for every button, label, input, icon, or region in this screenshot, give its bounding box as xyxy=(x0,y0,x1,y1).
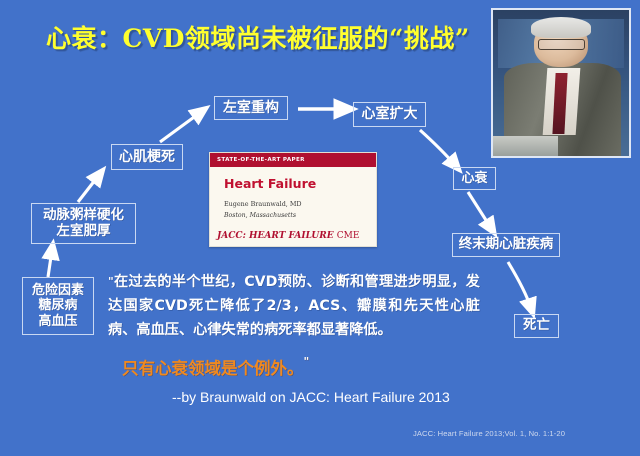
paper-affiliation: Boston, Massachusetts xyxy=(210,208,376,219)
arrow-risk-to-athero xyxy=(48,250,52,277)
quote-attribution: --by Braunwald on JACC: Heart Failure 20… xyxy=(172,389,450,405)
quote-highlight-text: 只有心衰领域是个例外。 xyxy=(122,359,304,378)
paper-cme-line: JACC: HEART FAILURE CME xyxy=(217,231,359,241)
slide-canvas: 心衰：CVD领域尚未被征服的“挑战” 危险因素 糖尿病 高血压 动脉粥 xyxy=(0,0,640,456)
source-citation: JACC: Heart Failure 2013;Vol. 1, No. 1:1… xyxy=(413,429,565,438)
flow-box-heart-failure: 心衰 xyxy=(453,167,496,190)
flow-box-myocardial-infarction: 心肌梗死 xyxy=(111,144,183,170)
photo-podium xyxy=(493,136,558,156)
paper-cme-label: CME xyxy=(337,231,360,241)
arrow-hf-to-endstage xyxy=(468,192,491,228)
quote-highlight: 只有心衰领域是个例外。" xyxy=(122,355,309,379)
arrow-athero-to-mi xyxy=(78,175,99,202)
arrow-mi-to-remodel xyxy=(160,112,201,142)
arrow-dilation-to-hf xyxy=(420,130,455,165)
flow-box-ventricular-dilation: 心室扩大 xyxy=(353,102,426,127)
flow-box-risk-factors: 危险因素 糖尿病 高血压 xyxy=(22,277,94,335)
flow-box-atherosclerosis: 动脉粥样硬化 左室肥厚 xyxy=(31,203,136,244)
quote-body: "在过去的半个世纪，CVD预防、诊断和管理进步明显，发达国家CVD死亡降低了2/… xyxy=(108,270,480,342)
braunwald-photo xyxy=(491,8,631,158)
arrow-endstage-to-death xyxy=(508,262,531,308)
photo-glasses xyxy=(538,39,585,50)
quote-text: 在过去的半个世纪，CVD预防、诊断和管理进步明显，发达国家CVD死亡降低了2/3… xyxy=(108,274,480,338)
paper-journal-name: JACC: HEART FAILURE xyxy=(217,231,334,241)
paper-title: Heart Failure xyxy=(210,167,376,191)
flow-box-death: 死亡 xyxy=(514,314,559,338)
flow-box-end-stage-heart-disease: 终末期心脏疾病 xyxy=(452,233,560,257)
page-title: 心衰：CVD领域尚未被征服的“挑战” xyxy=(46,24,466,54)
paper-band-label: STATE-OF-THE-ART PAPER xyxy=(210,153,376,167)
journal-paper-card: STATE-OF-THE-ART PAPER Heart Failure Eug… xyxy=(209,152,377,247)
paper-author: Eugene Braunwald, MD xyxy=(210,191,376,208)
flow-box-lv-remodeling: 左室重构 xyxy=(214,96,288,120)
quote-close-mark: " xyxy=(304,355,310,368)
photo-hair xyxy=(531,17,591,37)
